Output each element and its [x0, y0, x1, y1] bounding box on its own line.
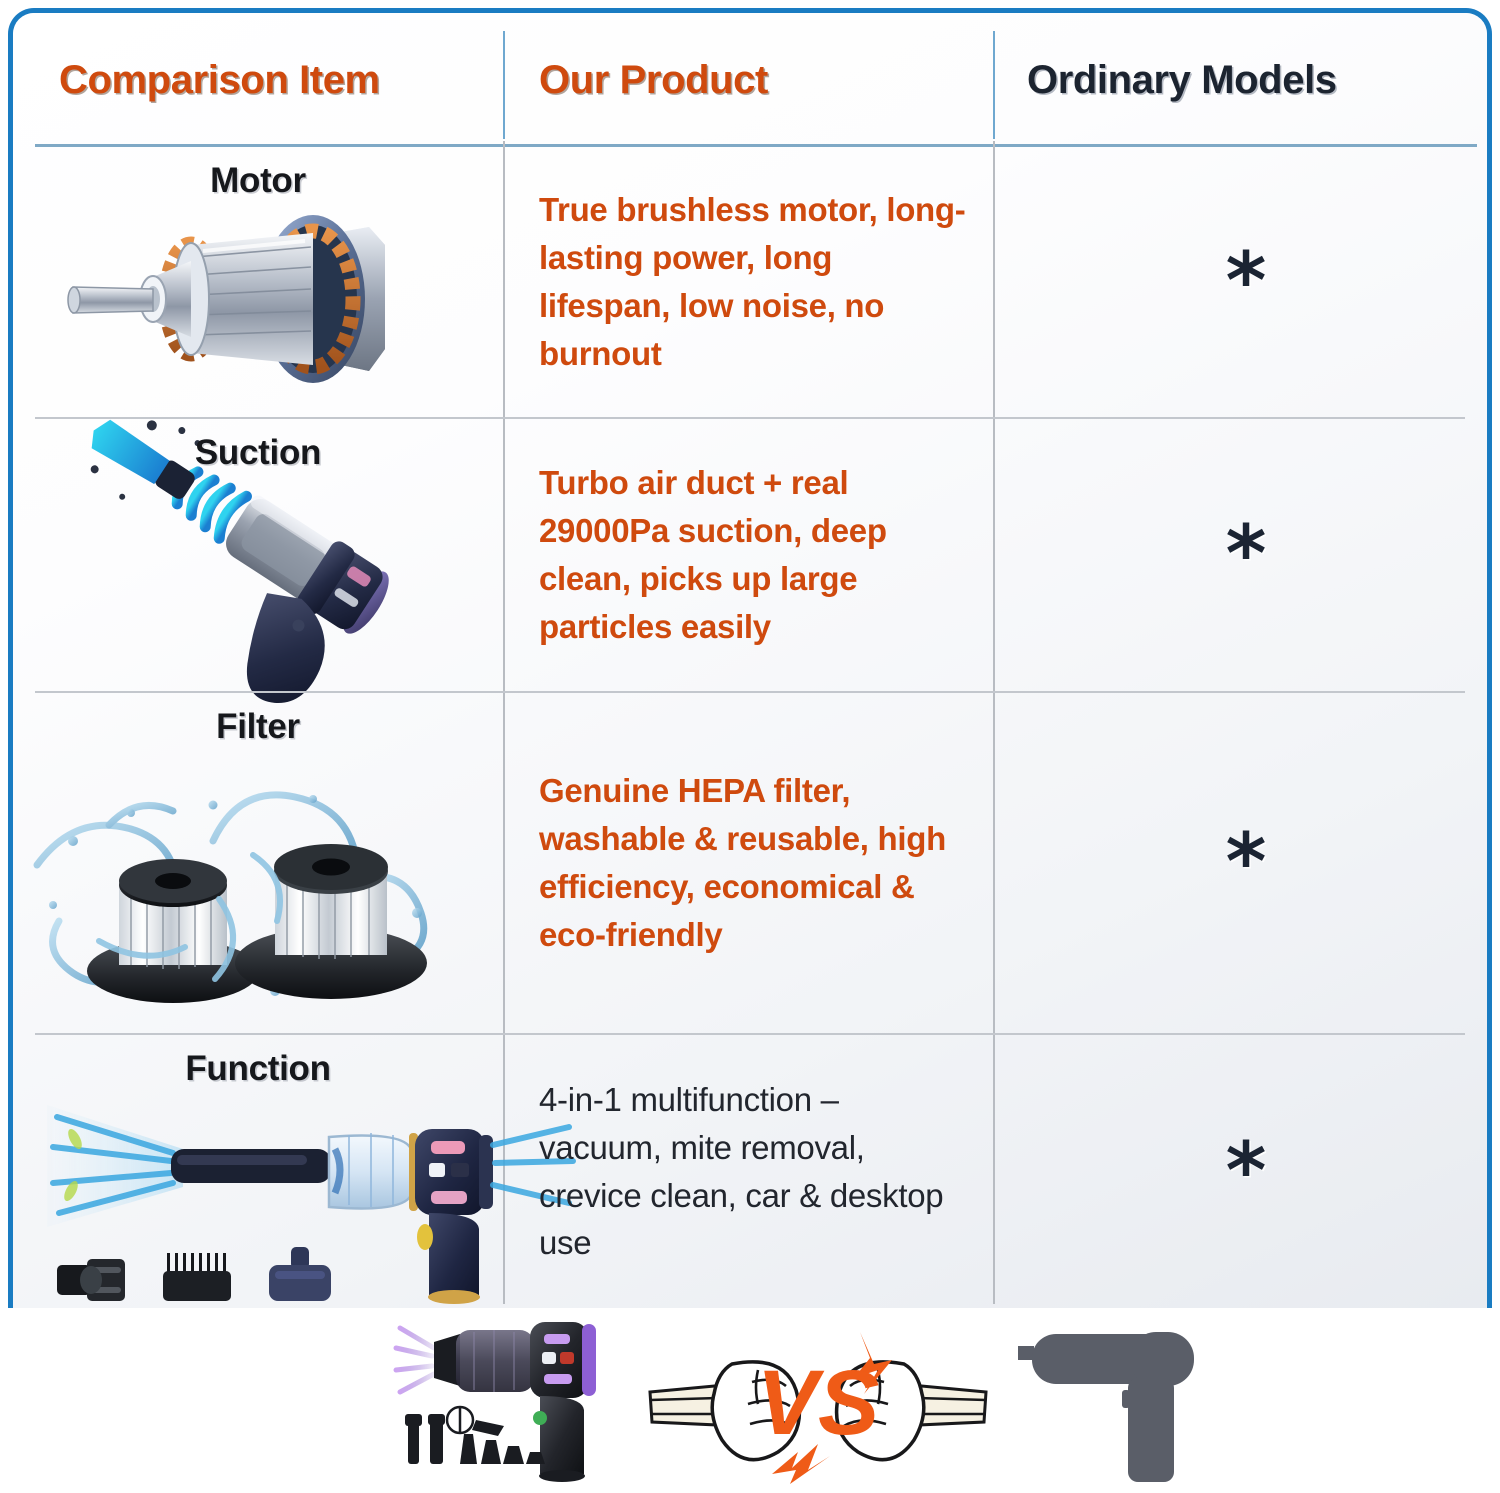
asterisk-icon: *	[1226, 243, 1267, 321]
row-description-motor: True brushless motor, long-lasting power…	[539, 186, 967, 377]
row-description-cell-suction: Turbo air duct + real 29000Pa suction, d…	[505, 419, 993, 691]
row-ordinary-cell-function: *	[995, 1035, 1492, 1308]
asterisk-icon: *	[1226, 516, 1267, 594]
header-label-comparison-item: Comparison Item	[59, 59, 380, 101]
row-description-cell-filter: Genuine HEPA filter, washable & reusable…	[505, 693, 993, 1033]
asterisk-icon: *	[1226, 1133, 1267, 1211]
row-item-cell-function: Function	[13, 1035, 503, 1308]
header-cell-our-product: Our Product	[505, 13, 1027, 146]
row-label-motor: Motor	[13, 161, 503, 201]
our-product-vacuum-image	[390, 1312, 640, 1492]
table-row: Filter	[13, 693, 1487, 1033]
row-description-filter: Genuine HEPA filter, washable & reusable…	[539, 767, 967, 958]
row-ordinary-cell-suction: *	[995, 419, 1492, 691]
row-description-suction: Turbo air duct + real 29000Pa suction, d…	[539, 459, 967, 650]
table-row: Motor	[13, 147, 1487, 417]
row-description-cell-motor: True brushless motor, long-lasting power…	[505, 147, 993, 417]
row-description-function: 4-in-1 multifunction – vacuum, mite remo…	[539, 1076, 967, 1267]
row-description-cell-function: 4-in-1 multifunction – vacuum, mite remo…	[505, 1035, 993, 1308]
comparison-table-frame: Comparison Item Our Product Ordinary Mod…	[8, 8, 1492, 1308]
row-item-cell-motor: Motor	[13, 147, 503, 417]
header-label-ordinary-models: Ordinary Models	[1027, 59, 1337, 101]
asterisk-icon: *	[1226, 824, 1267, 902]
row-ordinary-cell-motor: *	[995, 147, 1492, 417]
table-header-row: Comparison Item Our Product Ordinary Mod…	[13, 13, 1487, 146]
table-row: Function	[13, 1035, 1487, 1308]
header-cell-ordinary-models: Ordinary Models	[995, 13, 1492, 146]
vacuum-attachments-airflow-icon	[13, 1087, 503, 1302]
row-label-function: Function	[13, 1049, 503, 1089]
row-label-suction: Suction	[13, 433, 503, 473]
table-row: Suction	[13, 419, 1487, 691]
row-item-cell-suction: Suction	[13, 419, 503, 691]
handheld-vacuum-airflow-icon	[13, 471, 503, 685]
header-cell-comparison-item: Comparison Item	[13, 13, 549, 146]
versus-badge: VS	[648, 1330, 988, 1480]
hepa-filter-water-splash-icon	[13, 745, 503, 1027]
versus-label: VS	[757, 1352, 880, 1454]
row-item-cell-filter: Filter	[13, 693, 503, 1033]
row-label-filter: Filter	[13, 707, 503, 747]
versus-strip: VS	[0, 1308, 1500, 1493]
row-ordinary-cell-filter: *	[995, 693, 1492, 1033]
ordinary-vacuum-silhouette	[1010, 1318, 1310, 1488]
header-label-our-product: Our Product	[539, 59, 768, 101]
brushless-motor-rotor-icon	[13, 199, 503, 411]
comparison-table: Comparison Item Our Product Ordinary Mod…	[13, 13, 1487, 1308]
